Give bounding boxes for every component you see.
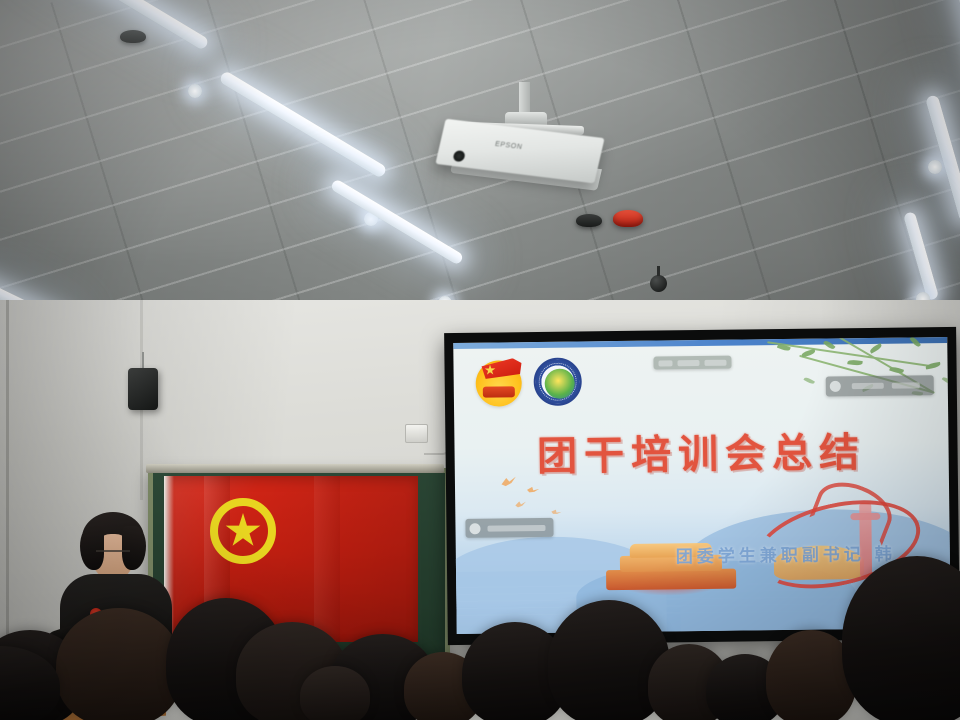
- willow-leaf: [942, 376, 951, 386]
- slide-toolbar-right[interactable]: [826, 375, 934, 396]
- willow-leaf: [801, 349, 816, 357]
- presenter-hair: [80, 526, 104, 570]
- logo-star-icon: [485, 365, 496, 376]
- smoke-detector-icon: [120, 30, 146, 43]
- toolbar-dot-icon[interactable]: [830, 381, 841, 392]
- fire-alarm-icon: [613, 210, 643, 227]
- willow-leaf: [803, 376, 815, 385]
- toolbar-segment[interactable]: [852, 383, 884, 389]
- wall-speaker: [128, 368, 158, 410]
- audience-head: [300, 666, 370, 720]
- seal-inner-emblem: [545, 369, 575, 399]
- slide-subtitle: 团委学生兼职副书记 韩: [676, 540, 896, 568]
- classroom-photo-scene: EPSON: [0, 0, 960, 720]
- dove-icon: [551, 509, 562, 516]
- toolbar-dot-icon[interactable]: [469, 523, 480, 534]
- willow-leaf: [910, 337, 921, 348]
- toolbar-segment[interactable]: [704, 359, 726, 365]
- slide-title: 团干培训会总结: [454, 419, 949, 483]
- toolbar-segment[interactable]: [487, 524, 545, 531]
- presenter-glasses-icon: [96, 550, 130, 560]
- chalkboard-rail: [146, 464, 444, 473]
- communist-youth-league-logo-icon: [475, 360, 522, 407]
- projector-brand-label: EPSON: [494, 141, 523, 151]
- toolbar-segment[interactable]: [892, 382, 920, 388]
- dove-icon: [515, 501, 527, 508]
- slide-toolbar-left[interactable]: [465, 518, 553, 538]
- flag-fold: [314, 476, 340, 642]
- school-seal-logo-icon: [533, 357, 582, 406]
- fluorescent-tube-light: [188, 84, 202, 98]
- willow-leaf: [925, 362, 941, 370]
- dove-icon: [527, 486, 540, 493]
- smoke-detector-icon: [576, 214, 602, 227]
- presenter-hair: [122, 526, 146, 570]
- slide-toolbar-top[interactable]: [653, 356, 731, 370]
- fluorescent-tube-light: [928, 160, 942, 174]
- logo-band: [483, 386, 515, 397]
- audience-head: [56, 608, 182, 720]
- dome-camera-icon: [650, 275, 667, 292]
- toolbar-segment[interactable]: [658, 360, 672, 366]
- willow-leaf: [869, 343, 883, 354]
- toolbar-segment[interactable]: [677, 360, 699, 366]
- projector-lens-icon: [452, 150, 465, 162]
- projector-mount: [519, 82, 530, 116]
- willow-leaf: [847, 359, 863, 366]
